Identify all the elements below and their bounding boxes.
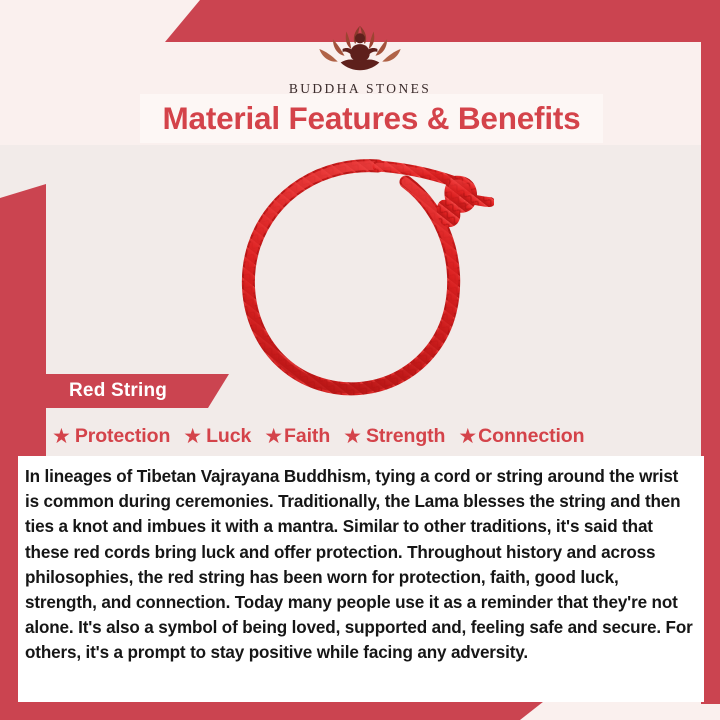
feature-item-luck: ★ Luck	[183, 425, 251, 448]
star-icon: ★	[343, 426, 362, 447]
feature-label: Luck	[206, 425, 251, 448]
feature-label: Strength	[366, 425, 445, 448]
infographic-page: BUDDHA STONES Material Features & Benefi…	[0, 0, 720, 720]
feature-item-connection: ★ Connection	[458, 425, 584, 448]
feature-item-faith: ★ Faith	[264, 425, 330, 448]
star-icon: ★	[183, 426, 202, 447]
description-block: In lineages of Tibetan Vajrayana Buddhis…	[18, 456, 704, 702]
brand-logo: BUDDHA STONES	[0, 18, 720, 97]
feature-item-strength: ★ Strength	[343, 425, 445, 448]
feature-list: ★ Protection ★ Luck ★ Faith ★ Strength ★…	[52, 421, 676, 451]
feature-item-protection: ★ Protection	[52, 425, 170, 448]
feature-label: Protection	[75, 425, 170, 448]
feature-label: Faith	[284, 425, 330, 448]
feature-label: Connection	[478, 425, 584, 448]
star-icon: ★	[458, 426, 477, 447]
product-name-ribbon: Red String	[22, 374, 229, 408]
star-icon: ★	[52, 426, 71, 447]
page-title-text: Material Features & Benefits	[162, 100, 580, 137]
red-cord-bracelet-image	[228, 152, 494, 398]
lotus-meditation-icon	[302, 18, 418, 78]
star-icon: ★	[264, 426, 283, 447]
description-text: In lineages of Tibetan Vajrayana Buddhis…	[25, 464, 694, 666]
product-name-label: Red String	[69, 380, 167, 402]
page-title: Material Features & Benefits	[140, 94, 603, 143]
